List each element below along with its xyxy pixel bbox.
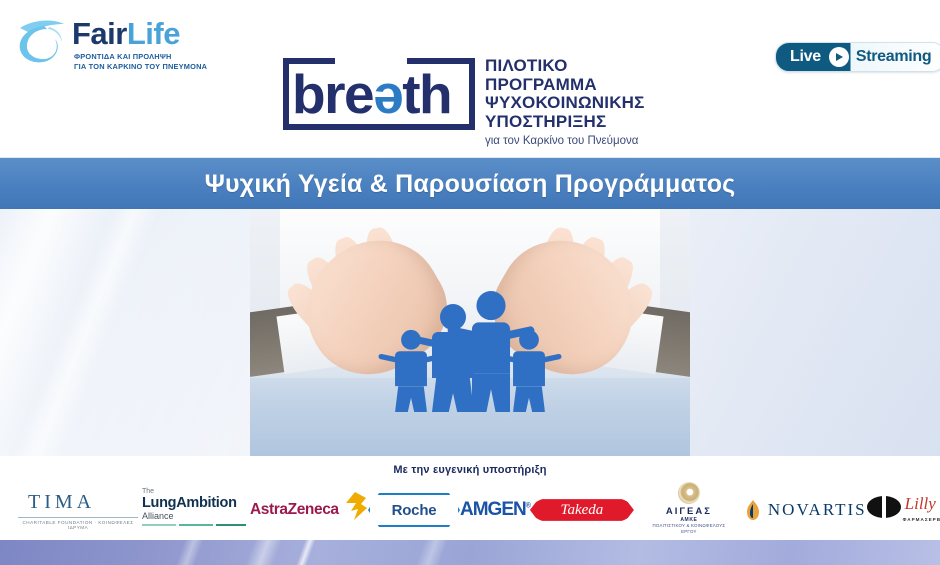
bottom-streak-1 [169, 540, 210, 565]
aigeas-spiral-icon [678, 482, 700, 504]
lungambition-alliance: Alliance [142, 511, 250, 522]
fairlife-swoosh-icon [14, 18, 70, 66]
family-figure-child-right [513, 330, 545, 412]
live-streaming-badge[interactable]: Live Streaming [775, 42, 940, 72]
fairlife-wordmark: FairLife [72, 18, 180, 49]
lilly-wordmark: Lilly [905, 494, 936, 514]
hero-banner: Fair LINE 111 57 Γραμμή Ενημέρωσης για τ… [0, 209, 940, 456]
breath-line-2: ΠΡΟΓΡΑΜΜΑ [485, 76, 685, 95]
tima-wordmark: TIMA [28, 491, 95, 514]
tima-rule [18, 517, 138, 518]
breath-wordmark: breəth [292, 62, 451, 126]
lilly-bar-icon [882, 494, 886, 520]
sponsor-logo-amgen[interactable]: AMGEN® [460, 484, 530, 536]
family-figure-adult-female [432, 304, 474, 412]
sponsor-logo-lilly[interactable]: Lilly ΦΑΡΜΑΣΕΡΒ [867, 484, 940, 536]
bracket-left [283, 58, 289, 130]
event-poster: FairLife ΦΡΟΝΤΙΔΑ ΚΑΙ ΠΡΟΛΗΨΗ ΓΙΑ ΤΟΝ ΚΑ… [0, 0, 940, 565]
bottom-streak-4 [409, 540, 454, 565]
novartis-flame-icon [744, 499, 762, 521]
paper-family-figures [350, 302, 590, 412]
bottom-decorative-strip [0, 540, 940, 565]
breath-bracket-frame: breəth [283, 58, 475, 130]
lilly-subtitle: ΦΑΡΜΑΣΕΡΒ [903, 517, 940, 522]
roche-wordmark: Roche [368, 493, 460, 527]
astrazeneca-mark-icon [342, 491, 368, 521]
fairlife-logo: FairLife ΦΡΟΝΤΙΔΑ ΚΑΙ ΠΡΟΛΗΨΗ ΓΙΑ ΤΟΝ ΚΑ… [14, 14, 224, 76]
lungambition-wordmark: LungAmbition [142, 496, 250, 511]
support-title: Με την ευγενική υποστήριξη [0, 464, 940, 476]
bracket-right [469, 58, 475, 130]
breath-description: ΠΙΛΟΤΙΚΟ ΠΡΟΓΡΑΜΜΑ ΨΥΧΟΚΟΙΝΩΝΙΚΗΣ ΥΠΟΣΤΗ… [485, 57, 685, 149]
breath-line-3: ΨΥΧΟΚΟΙΝΩΝΙΚΗΣ [485, 94, 685, 113]
page-title: Ψυχική Υγεία & Παρουσίαση Προγράμματος [205, 170, 736, 199]
breath-subtitle: για τον Καρκίνο του Πνεύμονα [485, 133, 685, 149]
sponsor-logo-roche[interactable]: Roche [368, 484, 460, 536]
tima-subtitle: CHARITABLE FOUNDATION · ΚΟΙΝΩΦΕΛΕΣ ΙΔΡΥΜ… [14, 520, 142, 530]
event-title-bar: Ψυχική Υγεία & Παρουσίαση Προγράμματος [0, 157, 940, 210]
streaming-label: Streaming [849, 48, 940, 66]
astrazeneca-wordmark: AstraZeneca [250, 501, 339, 519]
aigeas-subtitle-2: ΕΡΓΟΥ [634, 529, 744, 535]
bottom-streak-3 [288, 540, 321, 565]
live-label: Live [776, 48, 829, 66]
play-icon[interactable] [829, 47, 849, 67]
sponsor-logo-row: TIMA CHARITABLE FOUNDATION · ΚΟΙΝΩΦΕΛΕΣ … [0, 482, 940, 538]
lungambition-bars-icon [142, 524, 250, 526]
novartis-wordmark: NOVARTIS [768, 500, 867, 520]
breath-program-logo: breəth ΠΙΛΟΤΙΚΟ ΠΡΟΓΡΑΜΜΑ ΨΥΧΟΚΟΙΝΩΝΙΚΗΣ… [283, 58, 683, 148]
sponsor-logo-takeda[interactable]: Takeda [530, 484, 634, 536]
hero-photo [250, 209, 690, 456]
bottom-streak-2 [239, 540, 287, 565]
aigeas-wordmark: ΑΙΓΕΑΣ [634, 506, 744, 517]
amgen-wordmark: AMGEN [460, 499, 526, 520]
sponsor-logo-aigeas[interactable]: ΑΙΓΕΑΣ ΑΜΚΕ ΠΟΛΙΤΙΣΤΙΚΟΥ & ΚΟΙΝΩΦΕΛΟΥΣ Ε… [634, 484, 744, 536]
takeda-wordmark: Takeda [530, 493, 634, 527]
poster-header: FairLife ΦΡΟΝΤΙΔΑ ΚΑΙ ΠΡΟΛΗΨΗ ΓΙΑ ΤΟΝ ΚΑ… [0, 0, 940, 155]
sponsor-logo-tima[interactable]: TIMA CHARITABLE FOUNDATION · ΚΟΙΝΩΦΕΛΕΣ … [14, 484, 142, 536]
sponsor-logo-lungambition[interactable]: The LungAmbition Alliance [142, 484, 250, 536]
sponsor-logo-astrazeneca[interactable]: AstraZeneca [250, 484, 368, 536]
sponsor-logo-novartis[interactable]: NOVARTIS [744, 484, 867, 536]
sponsor-strip: Με την ευγενική υποστήριξη TIMA CHARITAB… [0, 456, 940, 540]
fairlife-tagline: ΦΡΟΝΤΙΔΑ ΚΑΙ ΠΡΟΛΗΨΗ ΓΙΑ ΤΟΝ ΚΑΡΚΙΝΟ ΤΟΥ… [74, 52, 207, 72]
family-figure-adult-male [472, 291, 510, 412]
breath-line-4: ΥΠΟΣΤΗΡΙΞΗΣ [485, 113, 685, 132]
breath-line-1: ΠΙΛΟΤΙΚΟ [485, 57, 685, 76]
